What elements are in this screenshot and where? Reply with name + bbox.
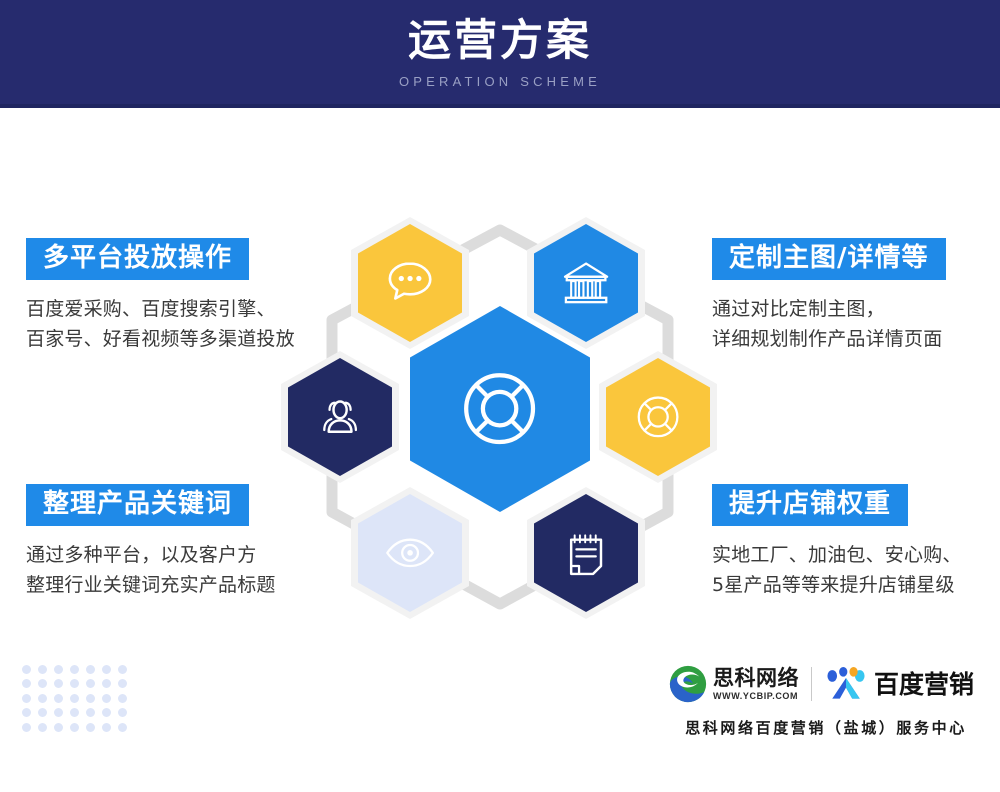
footer-logo-row: 思科网络 WWW.YCBIP.COM 百度营销 — [668, 660, 984, 708]
feature-body-line: 详细规划制作产品详情页面 — [712, 324, 946, 354]
dot — [86, 679, 95, 688]
dot — [38, 679, 47, 688]
dot — [54, 665, 63, 674]
feature-body-bottom-left: 通过多种平台，以及客户方 整理行业关键词充实产品标题 — [26, 540, 276, 600]
hexagon-cluster — [276, 212, 724, 622]
dot — [38, 708, 47, 717]
dot — [70, 679, 79, 688]
feature-body-line: 实地工厂、加油包、安心购、 — [712, 540, 962, 570]
dot — [102, 708, 111, 717]
dot — [54, 679, 63, 688]
dot — [86, 665, 95, 674]
dot — [38, 665, 47, 674]
baidu-bear-paw-icon — [824, 667, 868, 701]
feature-badge-multi-platform: 多平台投放操作 — [26, 238, 249, 280]
dot — [22, 679, 31, 688]
dot — [54, 723, 63, 732]
feature-body-line: 百度爱采购、百度搜索引擎、 — [26, 294, 295, 324]
dot — [70, 665, 79, 674]
dot — [102, 723, 111, 732]
dot — [22, 708, 31, 717]
page-header: 运营方案 OPERATION SCHEME — [0, 0, 1000, 108]
page-subtitle: OPERATION SCHEME — [399, 74, 601, 89]
dot — [70, 708, 79, 717]
feature-body-top-right: 通过对比定制主图， 详细规划制作产品详情页面 — [712, 294, 946, 354]
baidu-name-cn: 百度营销 — [874, 672, 974, 697]
lifebuoy-icon — [451, 353, 548, 464]
dot — [102, 679, 111, 688]
hexagon-shape — [410, 306, 590, 512]
feature-body-line: 通过对比定制主图， — [712, 294, 946, 324]
dot — [118, 708, 127, 717]
dot — [54, 694, 63, 703]
dot — [22, 665, 31, 674]
feature-badge-keywords: 整理产品关键词 — [26, 484, 249, 526]
dot — [54, 708, 63, 717]
hexagon-users — [288, 358, 392, 476]
feature-badge-custom-image: 定制主图/详情等 — [712, 238, 946, 280]
lifebuoy-icon — [630, 385, 686, 449]
hexagon-center — [410, 306, 590, 512]
logo-divider — [811, 667, 812, 701]
feature-body-bottom-right: 实地工厂、加油包、安心购、 5星产品等等来提升店铺星级 — [712, 540, 962, 600]
footer-logos: 思科网络 WWW.YCBIP.COM 百度营销 思科网络百度营销（盐城）服务中心 — [668, 660, 984, 740]
dot — [38, 694, 47, 703]
feature-body-line: 整理行业关键词充实产品标题 — [26, 570, 276, 600]
page-title: 运营方案 — [408, 19, 592, 64]
feature-block-bottom-right: 提升店铺权重 实地工厂、加油包、安心购、 5星产品等等来提升店铺星级 — [712, 484, 962, 600]
dot — [86, 708, 95, 717]
dot — [102, 694, 111, 703]
dot — [86, 723, 95, 732]
dot — [22, 694, 31, 703]
dot — [118, 723, 127, 732]
feature-badge-shop-weight: 提升店铺权重 — [712, 484, 908, 526]
feature-body-line: 5星产品等等来提升店铺星级 — [712, 570, 962, 600]
feature-body-line: 通过多种平台，以及客户方 — [26, 540, 276, 570]
cisco-logo-text: 思科网络 WWW.YCBIP.COM — [713, 667, 799, 700]
cisco-website-url: WWW.YCBIP.COM — [713, 691, 799, 701]
dot — [86, 694, 95, 703]
baidu-marketing-logo: 百度营销 — [824, 667, 974, 701]
cisco-network-logo: 思科网络 WWW.YCBIP.COM — [668, 664, 799, 704]
feature-block-bottom-left: 整理产品关键词 通过多种平台，以及客户方 整理行业关键词充实产品标题 — [26, 484, 276, 600]
feature-body-line: 百家号、好看视频等多渠道投放 — [26, 324, 295, 354]
hexagon-support — [606, 358, 710, 476]
dot — [118, 694, 127, 703]
feature-body-top-left: 百度爱采购、百度搜索引擎、 百家号、好看视频等多渠道投放 — [26, 294, 295, 354]
notepad-icon — [558, 521, 614, 585]
feature-block-top-left: 多平台投放操作 百度爱采购、百度搜索引擎、 百家号、好看视频等多渠道投放 — [26, 238, 295, 354]
dot — [70, 723, 79, 732]
dot — [118, 665, 127, 674]
feature-block-top-right: 定制主图/详情等 通过对比定制主图， 详细规划制作产品详情页面 — [712, 238, 946, 354]
s-swoosh-logo-icon — [668, 664, 708, 704]
dot — [70, 694, 79, 703]
users-group-icon — [312, 385, 368, 449]
dot-grid-decoration — [22, 665, 134, 737]
dot — [38, 723, 47, 732]
footer-tagline: 思科网络百度营销（盐城）服务中心 — [668, 717, 984, 738]
cisco-name-cn: 思科网络 — [713, 667, 799, 689]
dot — [22, 723, 31, 732]
dot — [118, 679, 127, 688]
dot — [102, 665, 111, 674]
eye-icon — [382, 521, 438, 585]
